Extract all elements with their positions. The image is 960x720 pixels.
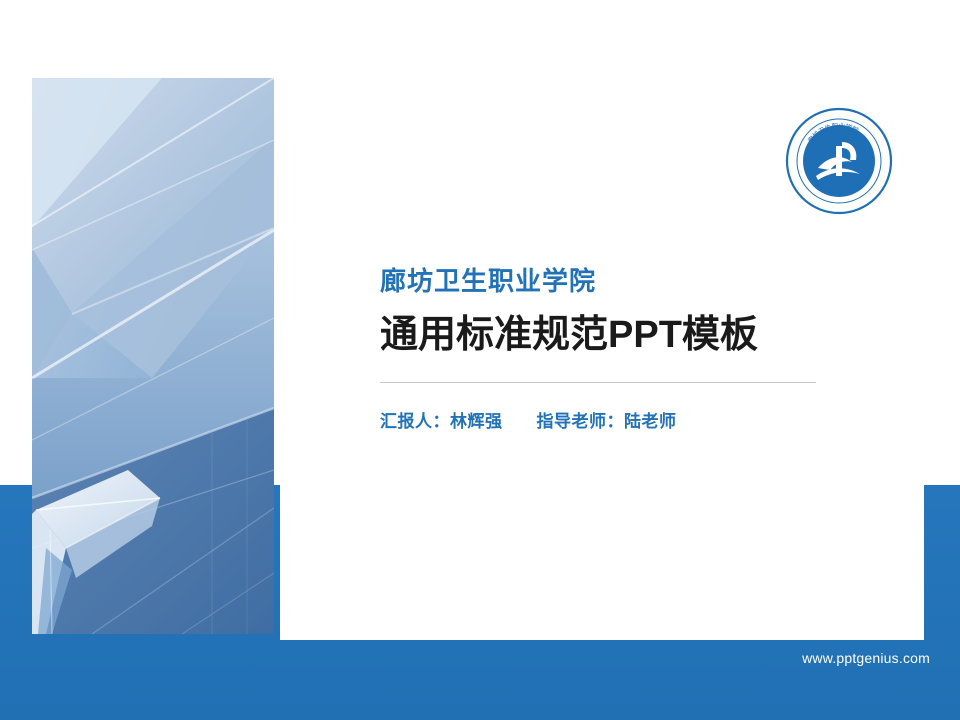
presentation-slide: 廊坊卫生职业学院 Langfang Health Vocational Coll… [0,0,960,720]
footer-url[interactable]: www.pptgenius.com [750,650,930,666]
presenter-label: 汇报人：林辉强 [380,407,503,432]
advisor-label: 指导老师：陆老师 [537,407,677,432]
school-name: 廊坊卫生职业学院 [380,264,820,298]
architecture-photo [32,78,274,634]
university-logo: 廊坊卫生职业学院 Langfang Health Vocational Coll… [784,106,894,216]
page-title: 通用标准规范PPT模板 [380,310,820,360]
title-divider [380,382,816,383]
title-text-block: 廊坊卫生职业学院 通用标准规范PPT模板 汇报人：林辉强 指导老师：陆老师 [380,264,820,432]
meta-row: 汇报人：林辉强 指导老师：陆老师 [380,407,820,432]
